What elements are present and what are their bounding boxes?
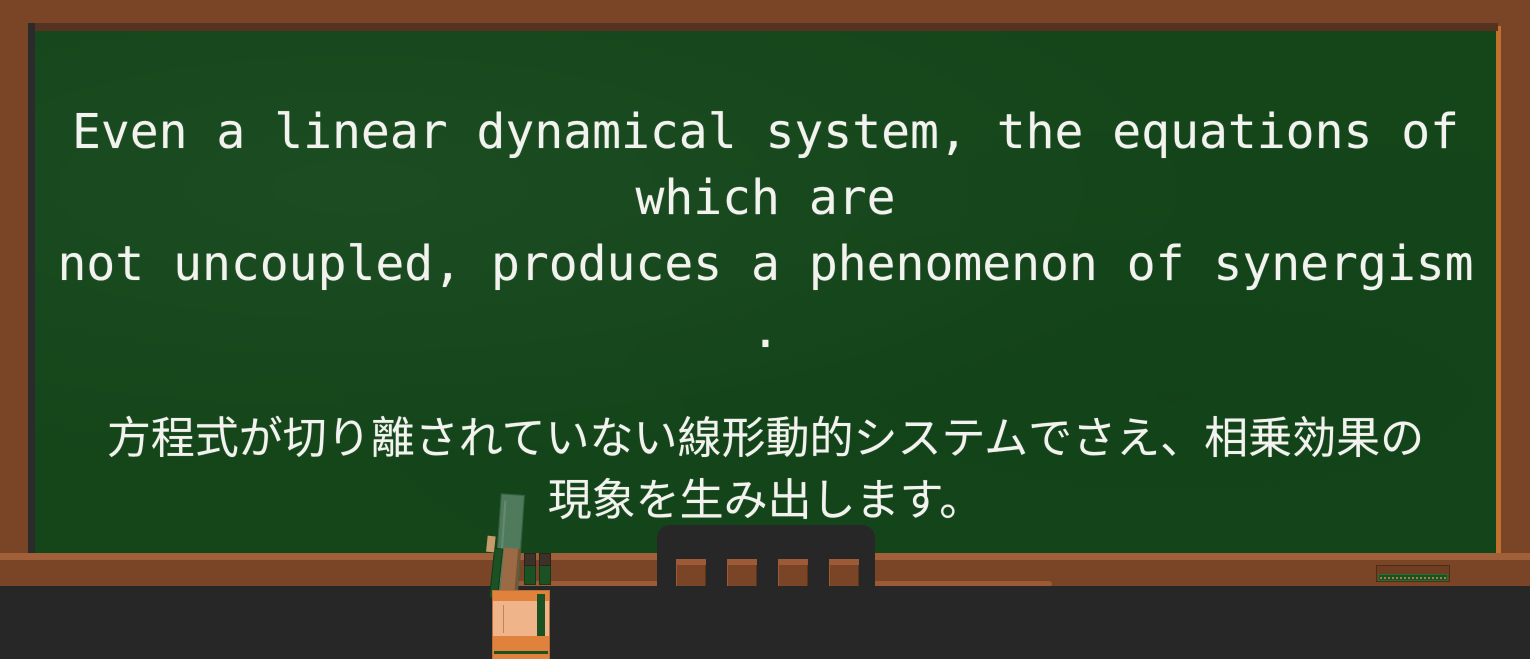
pencil-cup-icon xyxy=(492,590,550,659)
pencil-cup-side-pencil xyxy=(537,594,545,638)
chair-back xyxy=(657,525,875,659)
eraser-felt xyxy=(1378,574,1448,581)
frame-bevel-top xyxy=(28,23,1498,31)
pencil-cup-band xyxy=(493,636,549,659)
chair-slat-gap-2 xyxy=(727,560,757,586)
chalkboard-scene: Even a linear dynamical system, the equa… xyxy=(0,0,1530,659)
chair-slat-gap-3 xyxy=(778,560,808,586)
chalkboard-text-area: Even a linear dynamical system, the equa… xyxy=(35,31,1496,553)
pencil-cup-seam xyxy=(503,605,504,633)
eraser-icon xyxy=(1376,565,1450,582)
chalkboard-surface: Even a linear dynamical system, the equa… xyxy=(35,31,1496,553)
frame-bevel-left xyxy=(28,23,35,553)
chair-slat-gap-4 xyxy=(829,560,859,586)
japanese-sentence-line-2: 現象を生み出します。 xyxy=(76,470,1456,532)
paint-brush-icon-2 xyxy=(539,563,551,585)
english-sentence-line-1: Even a linear dynamical system, the equa… xyxy=(56,99,1476,231)
english-sentence-line-2: not uncoupled, produces a phenomenon of … xyxy=(56,231,1476,363)
japanese-sentence-line-1: 方程式が切り離されていない線形動的システムでさえ、相乗効果の xyxy=(76,408,1456,470)
pencil-cup-stripe xyxy=(494,651,548,654)
paint-brush-icon-1 xyxy=(524,563,536,585)
chair-slat-gap-1 xyxy=(676,560,706,586)
pencil-tip-icon xyxy=(486,536,496,553)
